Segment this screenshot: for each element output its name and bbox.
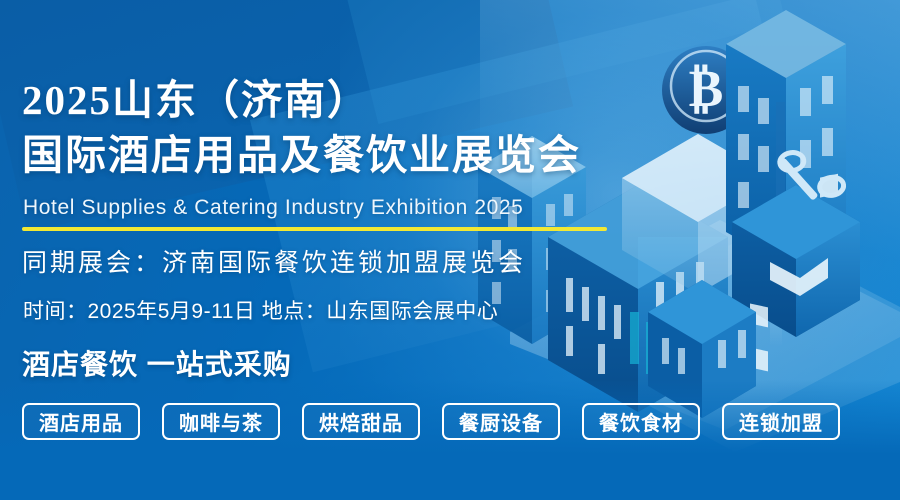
title-line-1: 2025山东（济南） bbox=[22, 78, 370, 122]
tag-chain-franchise[interactable]: 连锁加盟 bbox=[722, 403, 840, 440]
slogan-text: 酒店餐饮 一站式采购 bbox=[22, 343, 292, 383]
tag-coffee-tea[interactable]: 咖啡与茶 bbox=[162, 403, 280, 440]
date-and-venue-line: 时间：2025年5月9-11日 地点：山东国际会展中心 bbox=[23, 295, 498, 325]
tag-bakery-dessert[interactable]: 烘焙甜品 bbox=[302, 403, 420, 440]
banner-content: 2025山东（济南） 国际酒店用品及餐饮业展览会 Hotel Supplies … bbox=[0, 0, 900, 500]
category-tag-row: 酒店用品 咖啡与茶 烘焙甜品 餐厨设备 餐饮食材 连锁加盟 bbox=[22, 403, 840, 440]
concurrent-exhibition-line: 同期展会：济南国际餐饮连锁加盟展览会 bbox=[22, 243, 526, 279]
yellow-divider bbox=[22, 227, 607, 231]
tag-hotel-supplies[interactable]: 酒店用品 bbox=[22, 403, 140, 440]
tag-kitchen-equipment[interactable]: 餐厨设备 bbox=[442, 403, 560, 440]
tag-food-ingredients[interactable]: 餐饮食材 bbox=[582, 403, 700, 440]
subtitle-english: Hotel Supplies & Catering Industry Exhib… bbox=[23, 196, 523, 220]
title-line-2: 国际酒店用品及餐饮业展览会 bbox=[22, 133, 581, 177]
exhibition-banner: ₿ bbox=[0, 0, 900, 500]
